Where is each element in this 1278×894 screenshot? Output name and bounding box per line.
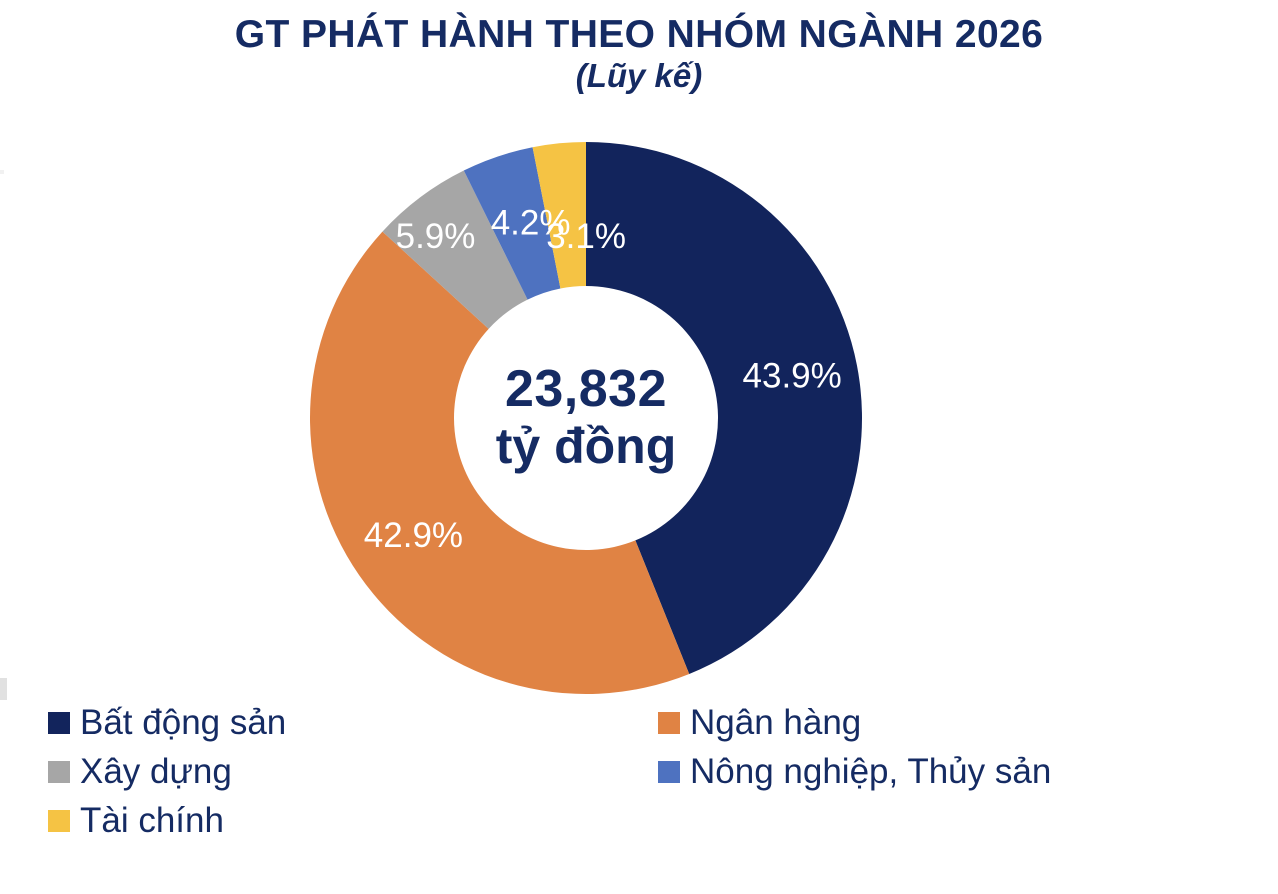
legend-swatch-icon bbox=[658, 712, 680, 734]
legend-item-nong-nghiep-thuy-san[interactable]: Nông nghiệp, Thủy sản bbox=[658, 747, 1218, 796]
donut-slice-label: 3.1% bbox=[546, 217, 626, 256]
chart-subtitle: (Lũy kế) bbox=[0, 58, 1278, 95]
title-block: GT PHÁT HÀNH THEO NHÓM NGÀNH 2026 (Lũy k… bbox=[0, 14, 1278, 95]
legend-swatch-icon bbox=[48, 712, 70, 734]
legend-column-left: Bất động sản Xây dựng Tài chính bbox=[48, 698, 648, 845]
chart-title: GT PHÁT HÀNH THEO NHÓM NGÀNH 2026 bbox=[0, 14, 1278, 56]
legend-item-label: Tài chính bbox=[80, 803, 224, 838]
legend-item-label: Bất động sản bbox=[80, 705, 286, 740]
legend-swatch-icon bbox=[658, 761, 680, 783]
slide-edge-artifact bbox=[0, 170, 4, 174]
legend-swatch-icon bbox=[48, 761, 70, 783]
legend-item-label: Xây dựng bbox=[80, 754, 232, 789]
legend-item-tai-chinh[interactable]: Tài chính bbox=[48, 796, 648, 845]
legend-column-right: Ngân hàng Nông nghiệp, Thủy sản bbox=[658, 698, 1218, 796]
legend-item-label: Ngân hàng bbox=[690, 705, 861, 740]
slide-edge-artifact bbox=[0, 678, 7, 700]
donut-slice-label: 42.9% bbox=[364, 516, 463, 555]
donut-chart: 43.9%42.9%5.9%4.2%3.1% bbox=[310, 142, 862, 694]
legend-item-bat-dong-san[interactable]: Bất động sản bbox=[48, 698, 648, 747]
chart-legend: Bất động sản Xây dựng Tài chính Ngân hàn… bbox=[48, 698, 1228, 858]
donut-svg: 43.9%42.9%5.9%4.2%3.1% bbox=[310, 142, 862, 694]
legend-swatch-icon bbox=[48, 810, 70, 832]
donut-slice-label: 5.9% bbox=[396, 217, 476, 256]
donut-slice-label: 43.9% bbox=[743, 356, 842, 395]
legend-item-ngan-hang[interactable]: Ngân hàng bbox=[658, 698, 1218, 747]
legend-item-label: Nông nghiệp, Thủy sản bbox=[690, 754, 1051, 789]
legend-item-xay-dung[interactable]: Xây dựng bbox=[48, 747, 648, 796]
